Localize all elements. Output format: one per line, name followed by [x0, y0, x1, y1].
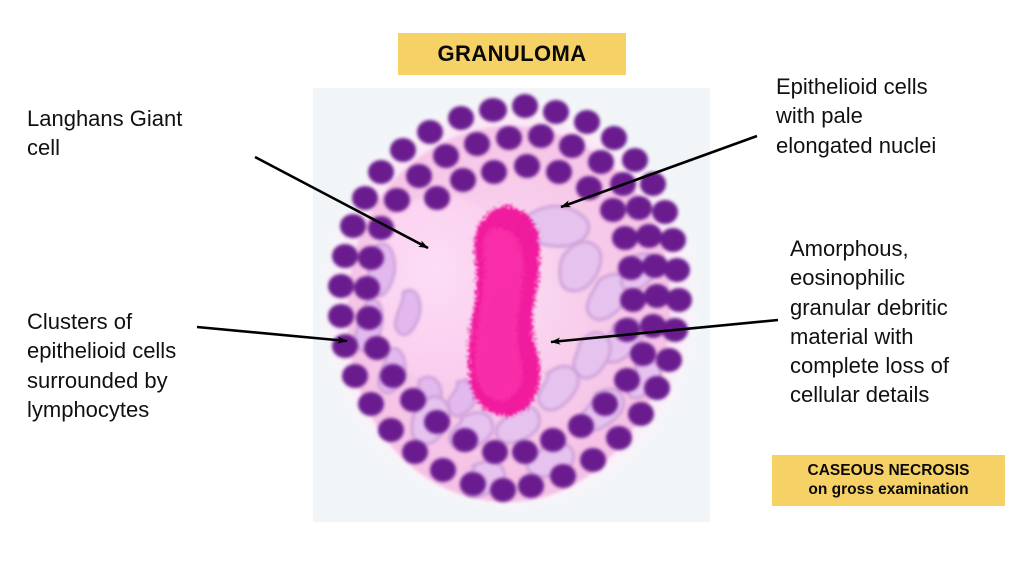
caseous-necrosis: [469, 206, 541, 416]
histology-image-panel: [313, 88, 710, 522]
title-banner: GRANULOMA: [398, 33, 626, 75]
callout-amorphous-debris: Amorphous, eosinophilic granular debriti…: [790, 234, 1020, 410]
note-line-1: CASEOUS NECROSIS: [808, 462, 970, 480]
granuloma-illustration: [313, 88, 710, 522]
note-line-2: on gross examination: [808, 481, 968, 499]
callout-epithelioid-cells: Epithelioid cells with pale elongated nu…: [776, 72, 1016, 160]
caseous-necrosis-banner: CASEOUS NECROSIS on gross examination: [772, 455, 1005, 506]
title-text: GRANULOMA: [437, 41, 586, 67]
callout-clusters-epithelioid-cells: Clusters of epithelioid cells surrounded…: [27, 307, 287, 424]
callout-langhans-giant-cell: Langhans Giant cell: [27, 104, 277, 163]
slide-canvas: GRANULOMA: [0, 0, 1024, 576]
